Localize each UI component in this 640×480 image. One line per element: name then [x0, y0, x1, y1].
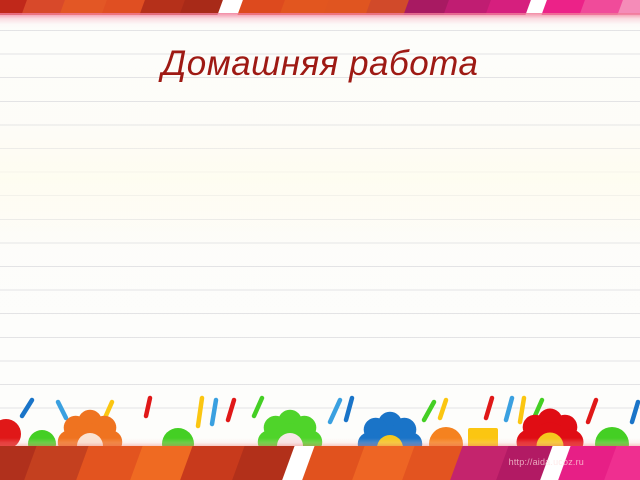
confetti-stick	[146, 398, 150, 416]
ruled-lines	[0, 30, 640, 420]
confetti-stick	[330, 400, 340, 422]
confetti-stick	[212, 400, 216, 424]
confetti-stick	[228, 400, 234, 420]
confetti-stick	[520, 398, 524, 422]
confetti-stick	[22, 400, 32, 416]
presentation-slide: Домашняя работа http://aida.ucoz.ru	[0, 0, 640, 480]
confetti-stick	[440, 400, 446, 418]
confetti-stick	[506, 398, 512, 420]
confetti-stick	[346, 398, 352, 420]
confetti-stick	[486, 398, 492, 418]
confetti-stick	[632, 402, 638, 422]
watermark-text: http://aida.ucoz.ru	[509, 457, 584, 467]
confetti-stick	[424, 402, 434, 420]
top-band-fade	[0, 13, 640, 29]
confetti-stick	[58, 402, 66, 418]
page-title: Домашняя работа	[0, 44, 640, 84]
confetti-stick	[588, 400, 596, 422]
confetti-stick	[198, 398, 202, 426]
confetti-stick	[254, 398, 262, 416]
